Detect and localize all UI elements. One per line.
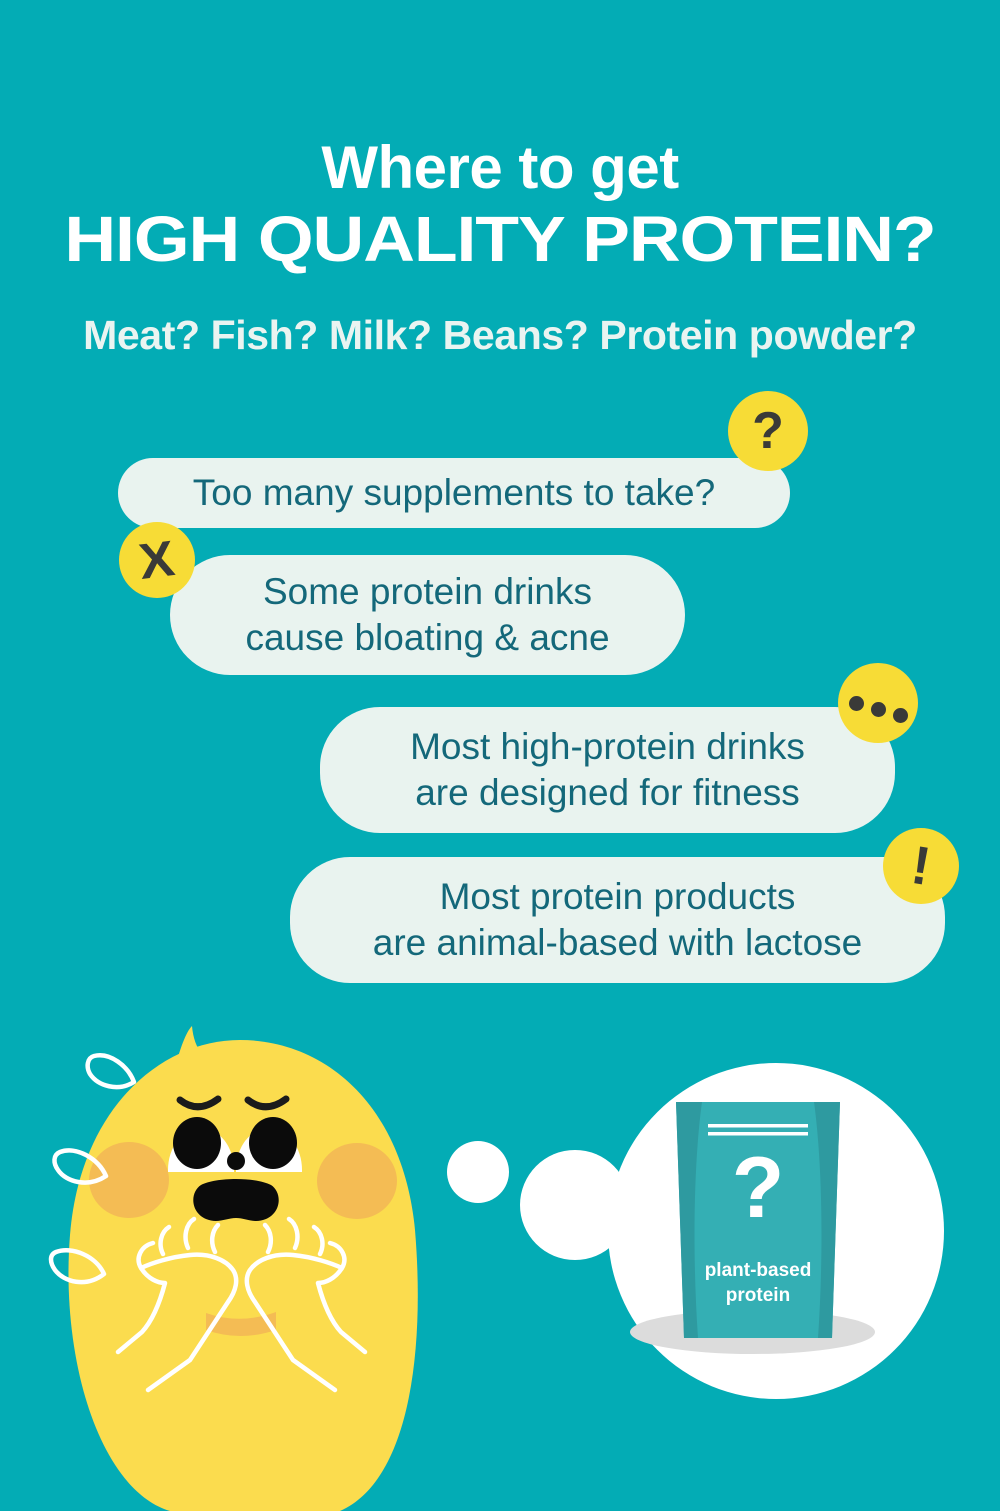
exclamation-badge: ! xyxy=(883,828,959,904)
speech-bubble-3-text: Most high-protein drinks are designed fo… xyxy=(410,724,805,817)
speech-bubble-2: Some protein drinks cause bloating & acn… xyxy=(170,555,685,675)
cross-icon: X xyxy=(137,533,178,587)
worried-chick-character xyxy=(40,1020,440,1511)
infographic-poster: Where to get HIGH QUALITY PROTEIN? Meat?… xyxy=(0,0,1000,1511)
question-mark-icon: ? xyxy=(752,405,784,457)
question-mark-badge: ? xyxy=(728,391,808,471)
speech-bubble-3: Most high-protein drinks are designed fo… xyxy=(320,707,895,833)
chick-pupil-right xyxy=(249,1117,297,1169)
speech-bubble-3-line-1: Most high-protein drinks xyxy=(410,726,805,767)
chick-pupil-left xyxy=(173,1117,221,1169)
speech-bubble-4-line-2: are animal-based with lactose xyxy=(373,922,862,963)
speech-bubble-3-line-2: are designed for fitness xyxy=(415,772,800,813)
sweat-drop-top xyxy=(88,1055,134,1087)
ellipsis-badge xyxy=(838,663,918,743)
speech-bubble-4-line-1: Most protein products xyxy=(440,876,796,917)
header-block: Where to get HIGH QUALITY PROTEIN? xyxy=(0,138,1000,276)
speech-bubble-4-text: Most protein products are animal-based w… xyxy=(373,874,862,967)
chick-mouth xyxy=(193,1179,278,1221)
speech-bubble-1-text: Too many supplements to take? xyxy=(193,470,715,516)
chick-body xyxy=(68,1040,417,1511)
thought-trail-dot-small xyxy=(447,1141,509,1203)
chick-blush-right xyxy=(317,1143,397,1219)
cross-badge: X xyxy=(119,522,195,598)
speech-bubble-1: Too many supplements to take? xyxy=(118,458,790,528)
speech-bubble-2-line-1: Some protein drinks xyxy=(263,571,592,612)
speech-bubble-2-text: Some protein drinks cause bloating & acn… xyxy=(245,569,609,662)
exclamation-icon: ! xyxy=(908,838,934,894)
pouch-question-mark: ? xyxy=(672,1145,844,1231)
title-line-2: HIGH QUALITY PROTEIN? xyxy=(0,204,1000,276)
ellipsis-dot xyxy=(871,702,886,717)
ellipsis-dot xyxy=(893,708,908,723)
subtitle: Meat? Fish? Milk? Beans? Protein powder? xyxy=(0,312,1000,359)
speech-bubble-2-line-2: cause bloating & acne xyxy=(245,617,609,658)
ellipsis-dot xyxy=(849,696,864,711)
speech-bubble-4: Most protein products are animal-based w… xyxy=(290,857,945,983)
chick-nose xyxy=(227,1152,245,1170)
title-line-1: Where to get xyxy=(0,138,1000,198)
ellipsis-icon xyxy=(849,696,908,711)
